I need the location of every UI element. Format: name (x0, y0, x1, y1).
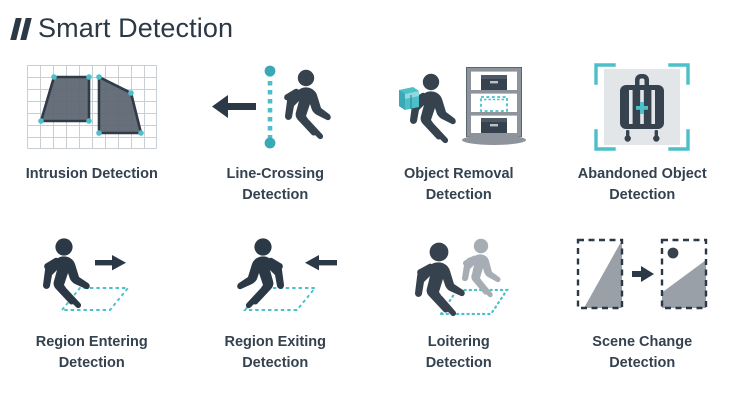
feature-label: Abandoned Object Detection (578, 164, 707, 206)
object-removal-person-shelf-icon (379, 62, 539, 152)
feature-label: Object Removal Detection (404, 164, 514, 206)
feature-card-abandoned-object-detection[interactable]: Abandoned Object Detection (551, 62, 734, 232)
feature-card-scene-change-detection[interactable]: Scene Change Detection (551, 232, 734, 397)
abandoned-object-suitcase-icon (562, 62, 722, 152)
feature-label: Region Entering Detection (36, 332, 148, 374)
feature-grid: Intrusion Detection (0, 62, 734, 397)
feature-card-object-removal-detection[interactable]: Object Removal Detection (367, 62, 551, 232)
feature-card-line-crossing-detection[interactable]: Line-Crossing Detection (184, 62, 368, 232)
feature-label: Intrusion Detection (26, 164, 158, 185)
feature-card-region-exiting-detection[interactable]: Region Exiting Detection (184, 232, 368, 397)
loitering-two-people-icon (379, 232, 539, 320)
double-slash-icon (10, 15, 36, 41)
region-entering-person-arrow-icon (12, 232, 172, 320)
line-crossing-arrow-person-icon (195, 62, 355, 152)
feature-label: Line-Crossing Detection (227, 164, 324, 206)
page-title: Smart Detection (10, 8, 233, 48)
region-exiting-person-arrow-icon (195, 232, 355, 320)
page-title-text: Smart Detection (38, 15, 233, 42)
scene-change-frames-arrow-icon (562, 232, 722, 320)
feature-card-loitering-detection[interactable]: Loitering Detection (367, 232, 551, 397)
smart-detection-page: Smart Detection (0, 0, 734, 416)
feature-card-region-entering-detection[interactable]: Region Entering Detection (0, 232, 184, 397)
intrusion-grid-polygons-icon (12, 62, 172, 152)
feature-label: Loitering Detection (426, 332, 492, 374)
feature-label: Region Exiting Detection (225, 332, 327, 374)
feature-card-intrusion-detection[interactable]: Intrusion Detection (0, 62, 184, 232)
feature-label: Scene Change Detection (592, 332, 692, 374)
